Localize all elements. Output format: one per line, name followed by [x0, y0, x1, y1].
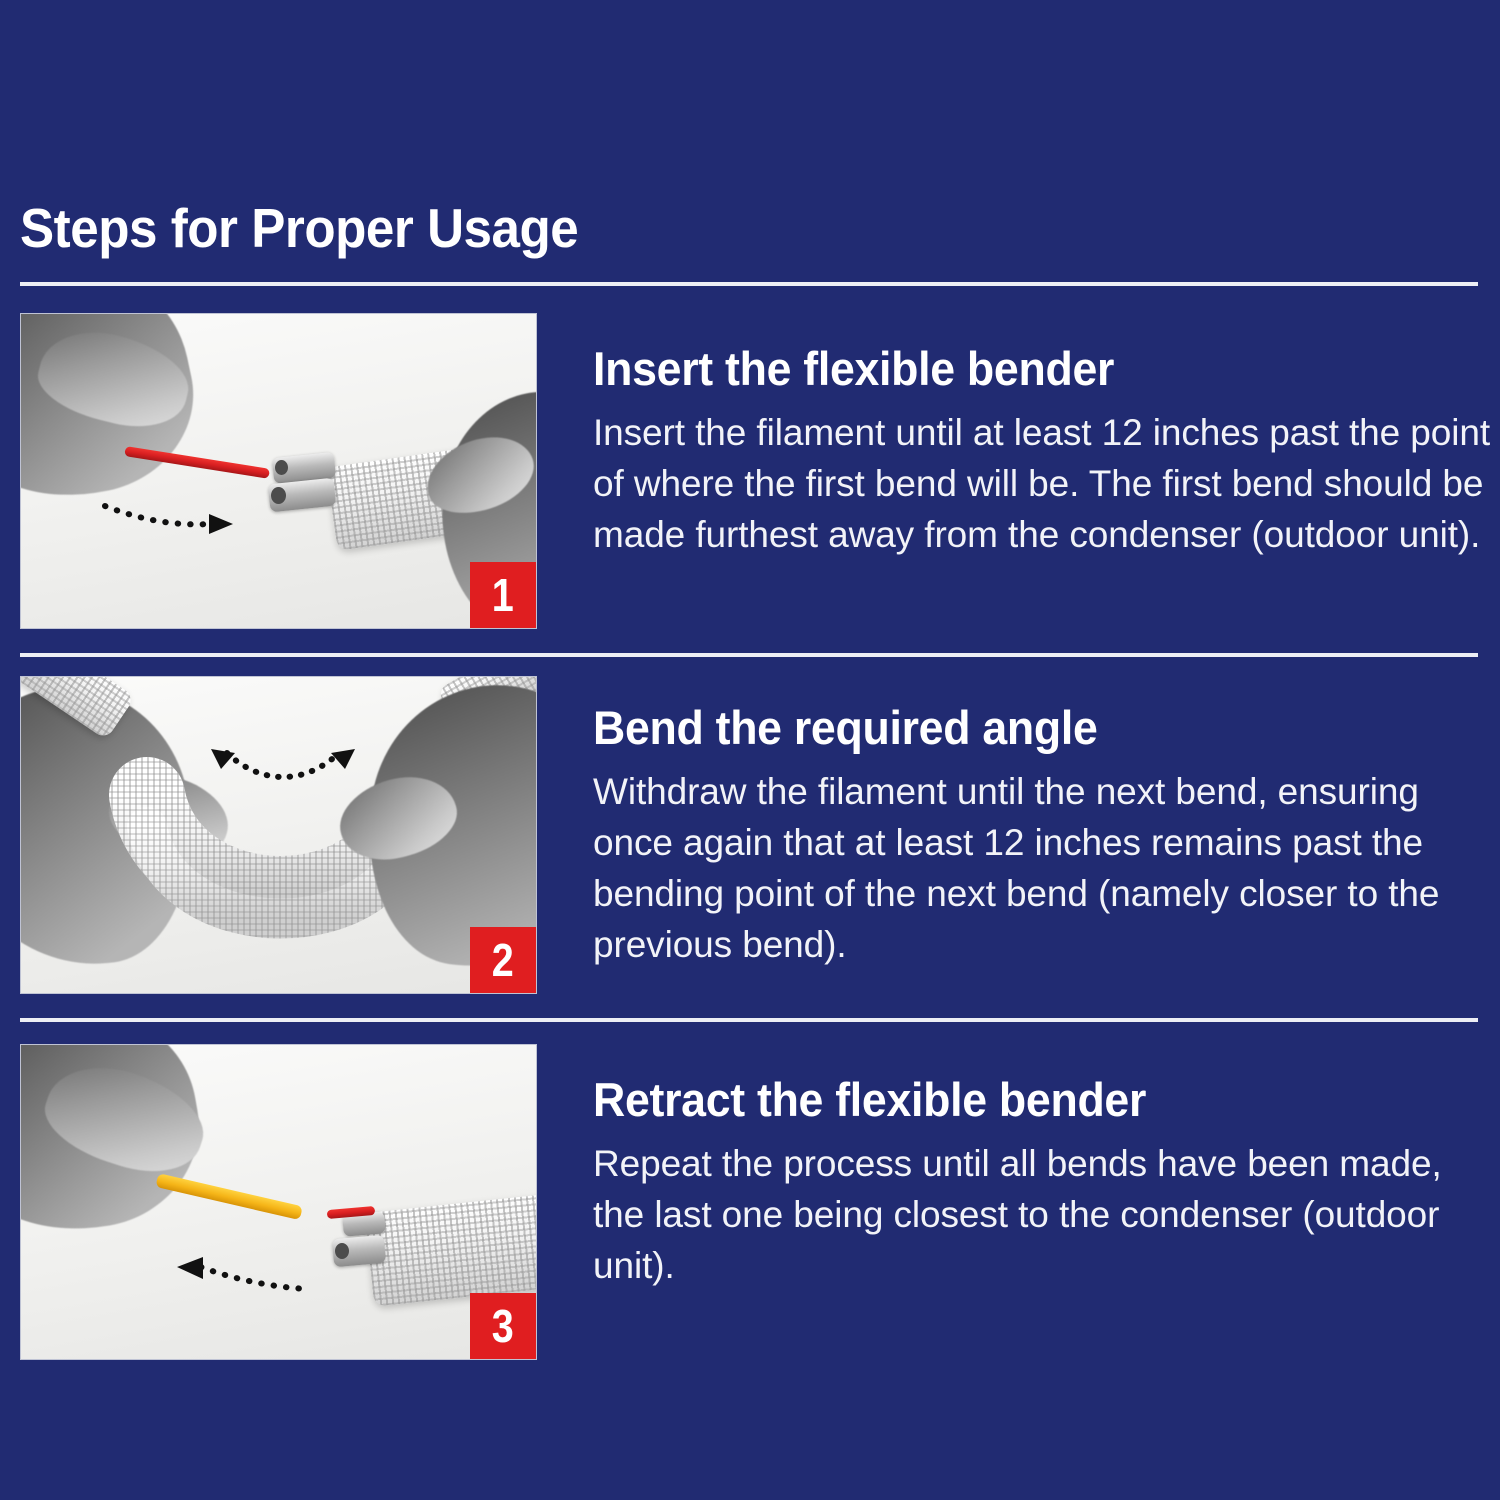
step-3-photo: 3	[20, 1044, 537, 1360]
step-3-body: Repeat the process until all bends have …	[593, 1138, 1498, 1291]
title-block: Steps for Proper Usage	[20, 196, 1478, 286]
fitting-bore-lower	[271, 487, 286, 504]
step-1-photo: 1	[20, 313, 537, 629]
step-row-2: 2 Bend the required angle Withdraw the f…	[0, 676, 1500, 994]
step-3-number: 3	[492, 1303, 514, 1349]
direction-arrow-left	[167, 1257, 309, 1293]
step-2-heading: Bend the required angle	[593, 700, 1453, 756]
step-3-text: Retract the flexible bender Repeat the p…	[593, 1072, 1498, 1291]
step-2-photo: 2	[20, 676, 537, 994]
step-1-number-badge: 1	[470, 562, 536, 628]
section-divider-2	[20, 1018, 1478, 1022]
step-3-heading: Retract the flexible bender	[593, 1072, 1453, 1128]
step-1-number: 1	[492, 572, 514, 618]
step-row-1: 1 Insert the flexible bender Insert the …	[0, 313, 1500, 629]
step-1-heading: Insert the flexible bender	[593, 341, 1453, 397]
step-1-text: Insert the flexible bender Insert the fi…	[593, 341, 1498, 560]
infographic-page: Steps for Proper Usage	[0, 0, 1500, 1500]
direction-arrow-right	[103, 498, 243, 532]
step-2-body: Withdraw the filament until the next ben…	[593, 766, 1498, 970]
step-2-number-badge: 2	[470, 927, 536, 993]
step-row-3: 3 Retract the flexible bender Repeat the…	[0, 1044, 1500, 1360]
step-2-text: Bend the required angle Withdraw the fil…	[593, 700, 1498, 970]
direction-arrow-arc	[209, 747, 357, 789]
section-divider-1	[20, 653, 1478, 657]
title-underline	[20, 282, 1478, 286]
fitting-bore-upper	[275, 460, 288, 475]
step-3-number-badge: 3	[470, 1293, 536, 1359]
page-title: Steps for Proper Usage	[20, 196, 1376, 260]
step-2-number: 2	[492, 937, 514, 983]
fitting-bore-lower	[335, 1243, 349, 1259]
step-1-body: Insert the filament until at least 12 in…	[593, 407, 1498, 560]
braided-hose	[365, 1193, 537, 1306]
